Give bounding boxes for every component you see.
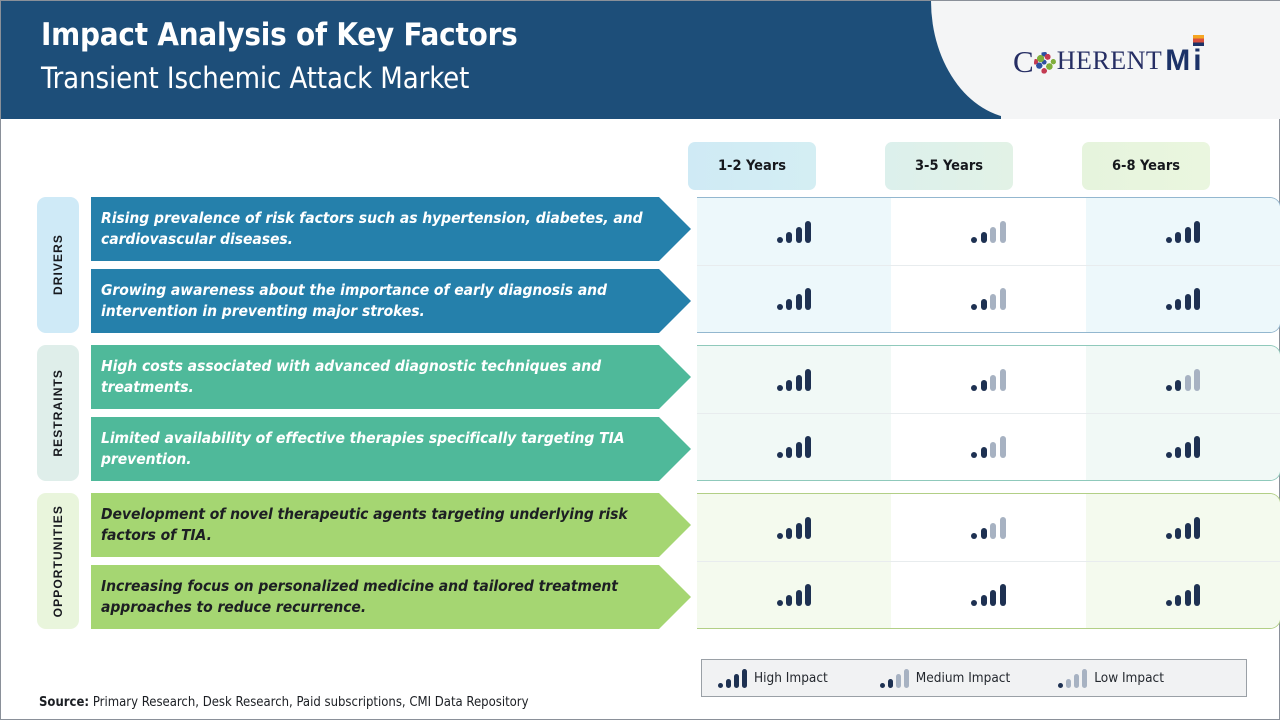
factor-arrow: Increasing focus on personalized medicin… xyxy=(91,565,691,629)
column-header-3-5-years: 3-5 Years xyxy=(885,142,1013,190)
group-arrows: Development of novel therapeutic agents … xyxy=(91,493,691,629)
impact-bars-medium-icon xyxy=(971,369,1006,391)
impact-legend: High Impact Medium Impact Low Impact xyxy=(701,659,1247,697)
logo-letter-c: C xyxy=(1013,46,1034,77)
impact-bars-medium-icon xyxy=(971,221,1006,243)
impact-cell xyxy=(1086,198,1280,265)
source-text: Primary Research, Desk Research, Paid su… xyxy=(89,695,528,710)
column-header-label: 3-5 Years xyxy=(915,158,983,174)
logo-text-m: M xyxy=(1165,46,1190,76)
impact-bars-high-icon xyxy=(777,436,812,458)
factor-arrow: Rising prevalence of risk factors such a… xyxy=(91,197,691,261)
source-note: Source: Primary Research, Desk Research,… xyxy=(39,695,529,710)
group-label-text: OPPORTUNITIES xyxy=(51,505,65,617)
impact-bars-high-icon xyxy=(777,369,812,391)
impact-bars-low-icon xyxy=(1058,669,1087,688)
logo-gradient-bars-icon xyxy=(1193,35,1204,46)
legend-label: High Impact xyxy=(754,670,828,686)
column-header-6-8-years: 6-8 Years xyxy=(1082,142,1210,190)
impact-cell xyxy=(697,198,891,265)
group-label-opportunities: OPPORTUNITIES xyxy=(37,493,79,629)
factor-text: High costs associated with advanced diag… xyxy=(101,356,669,399)
impact-cell xyxy=(1086,265,1280,332)
coherentmi-logo[interactable]: C HERENT M i xyxy=(1013,41,1202,81)
legend-item-medium: Medium Impact xyxy=(880,669,1010,688)
source-prefix: Source: xyxy=(39,695,89,710)
impact-cells-panel xyxy=(697,493,1280,629)
group-label-text: DRIVERS xyxy=(51,234,65,295)
impact-bars-high-icon xyxy=(1166,436,1201,458)
factor-arrow: Development of novel therapeutic agents … xyxy=(91,493,691,557)
header-text-block: Impact Analysis of Key Factors Transient… xyxy=(41,13,518,99)
page-subtitle: Transient Ischemic Attack Market xyxy=(41,57,518,99)
logo-text-i: i xyxy=(1193,46,1201,76)
impact-bars-high-icon xyxy=(718,669,747,688)
factor-text: Rising prevalence of risk factors such a… xyxy=(101,208,669,251)
impact-cell xyxy=(891,265,1085,332)
factor-text: Growing awareness about the importance o… xyxy=(101,280,669,323)
impact-bars-medium-icon xyxy=(971,517,1006,539)
impact-bars-high-icon xyxy=(777,584,812,606)
impact-cell xyxy=(891,494,1085,561)
impact-bars-high-icon xyxy=(1166,288,1201,310)
factor-text: Development of novel therapeutic agents … xyxy=(101,504,669,547)
impact-bars-high-icon xyxy=(777,517,812,539)
impact-cell xyxy=(697,265,891,332)
logo-i-glyph: i xyxy=(1193,44,1201,77)
factor-text: Increasing focus on personalized medicin… xyxy=(101,576,669,619)
legend-label: Medium Impact xyxy=(916,670,1010,686)
impact-cell xyxy=(891,346,1085,413)
legend-item-high: High Impact xyxy=(718,669,828,688)
impact-bars-medium-icon xyxy=(880,669,909,688)
group-arrows: Rising prevalence of risk factors such a… xyxy=(91,197,691,333)
legend-item-low: Low Impact xyxy=(1058,669,1164,688)
impact-bars-medium-icon xyxy=(971,436,1006,458)
impact-cells-panel xyxy=(697,197,1280,333)
impact-cell xyxy=(1086,494,1280,561)
logo-text-coherent: HERENT xyxy=(1057,48,1163,74)
page-title: Impact Analysis of Key Factors xyxy=(41,13,518,57)
impact-cell xyxy=(891,198,1085,265)
factor-arrow: Limited availability of effective therap… xyxy=(91,417,691,481)
impact-bars-high-icon xyxy=(1166,584,1201,606)
impact-cell xyxy=(697,561,891,628)
impact-bars-high-icon xyxy=(1166,517,1201,539)
impact-cell xyxy=(891,413,1085,480)
impact-bars-high-icon xyxy=(777,221,812,243)
impact-cell xyxy=(697,346,891,413)
group-label-drivers: DRIVERS xyxy=(37,197,79,333)
column-header-1-2-years: 1-2 Years xyxy=(688,142,816,190)
group-arrows: High costs associated with advanced diag… xyxy=(91,345,691,481)
impact-cell xyxy=(1086,413,1280,480)
impact-bars-high-icon xyxy=(971,584,1006,606)
factor-text: Limited availability of effective therap… xyxy=(101,428,669,471)
legend-label: Low Impact xyxy=(1094,670,1164,686)
globe-dotted-icon xyxy=(1034,52,1056,74)
factor-arrow: High costs associated with advanced diag… xyxy=(91,345,691,409)
impact-cell xyxy=(697,494,891,561)
impact-cell xyxy=(697,413,891,480)
impact-cell xyxy=(1086,561,1280,628)
impact-bars-high-icon xyxy=(1166,221,1201,243)
impact-bars-medium-icon xyxy=(1166,369,1201,391)
group-label-restraints: RESTRAINTS xyxy=(37,345,79,481)
column-header-label: 1-2 Years xyxy=(718,158,786,174)
factor-arrow: Growing awareness about the importance o… xyxy=(91,269,691,333)
impact-cells-panel xyxy=(697,345,1280,481)
column-header-label: 6-8 Years xyxy=(1112,158,1180,174)
impact-bars-high-icon xyxy=(777,288,812,310)
impact-cell xyxy=(891,561,1085,628)
impact-bars-medium-icon xyxy=(971,288,1006,310)
impact-cell xyxy=(1086,346,1280,413)
group-label-text: RESTRAINTS xyxy=(51,369,65,457)
